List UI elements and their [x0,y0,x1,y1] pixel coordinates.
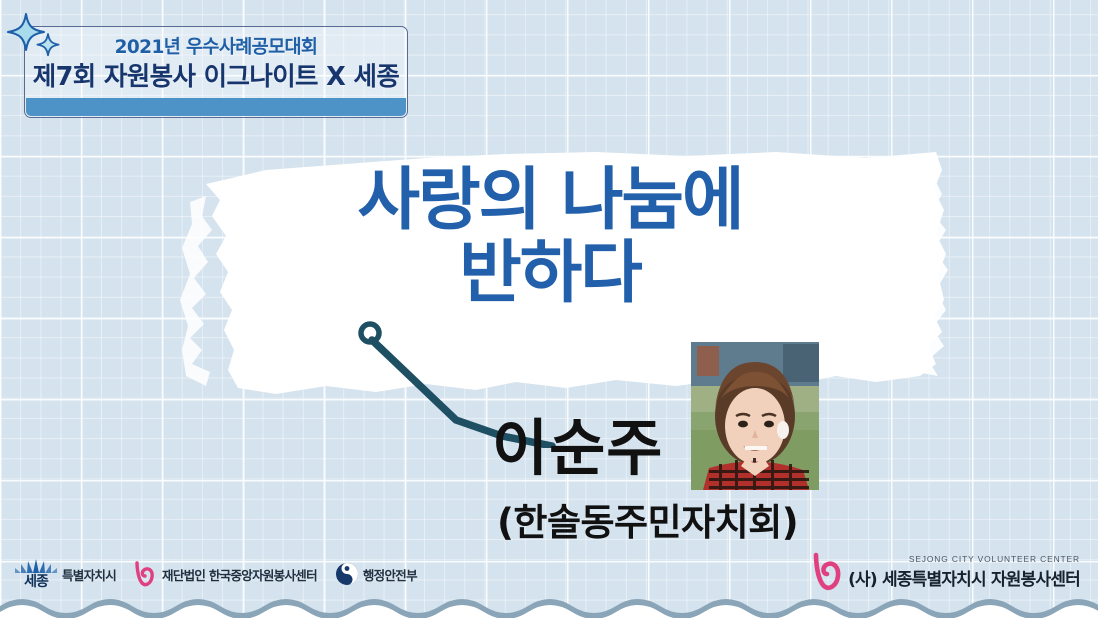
logo-sejong-city-volunteer-center: SEJONG CITY VOLUNTEER CENTER (사) 세종특별자치시… [812,550,1080,594]
logo-scvc-english-label: SEJONG CITY VOLUNTEER CENTER [848,554,1080,564]
event-badge-bottom-bar [26,98,407,116]
event-badge: 2021년 우수사례공모대회 제7회 자원봉사 이그나이트 X 세종 [24,26,408,118]
logo-ministry-of-interior-and-safety: 행정안전부 [335,562,417,586]
speaker-organization: (한솔동주민자치회) [497,492,798,546]
pink-heart-icon [812,552,846,592]
speaker-name: 이순주 [492,398,663,487]
avatar [691,342,819,490]
logo-sejong-city-label: 특별자치시 [62,565,116,584]
slide-title-line-2: 반하다 [240,239,860,308]
slide-title: 사랑의 나눔에 반하다 [240,166,860,309]
logo-sejong-mark-text: 세종 [24,575,48,589]
event-badge-title: 제7회 자원봉사 이그나이트 X 세종 [24,56,408,93]
logo-mois-label: 행정안전부 [363,565,417,584]
speaker-photo [691,342,819,490]
logo-korea-central-volunteer-center: 재단법인 한국중앙자원봉사센터 [134,561,317,587]
slide-title-line-1: 사랑의 나눔에 [357,161,742,240]
logo-sejong-city: 세종 특별자치시 [14,559,116,589]
sejong-wing-icon [14,559,58,575]
footer-logo-group-left: 세종 특별자치시 재단법인 한국중앙자원봉사센터 행정안전부 [14,553,417,595]
circle-node-icon [361,324,379,342]
pink-heart-icon [134,561,158,587]
taegeuk-icon [335,562,359,586]
logo-scvc-korean-label: (사) 세종특별자치시 자원봉사센터 [848,565,1080,590]
presentation-slide: 2021년 우수사례공모대회 제7회 자원봉사 이그나이트 X 세종 사랑의 나… [0,0,1098,618]
logo-kcvc-label: 재단법인 한국중앙자원봉사센터 [162,565,317,584]
